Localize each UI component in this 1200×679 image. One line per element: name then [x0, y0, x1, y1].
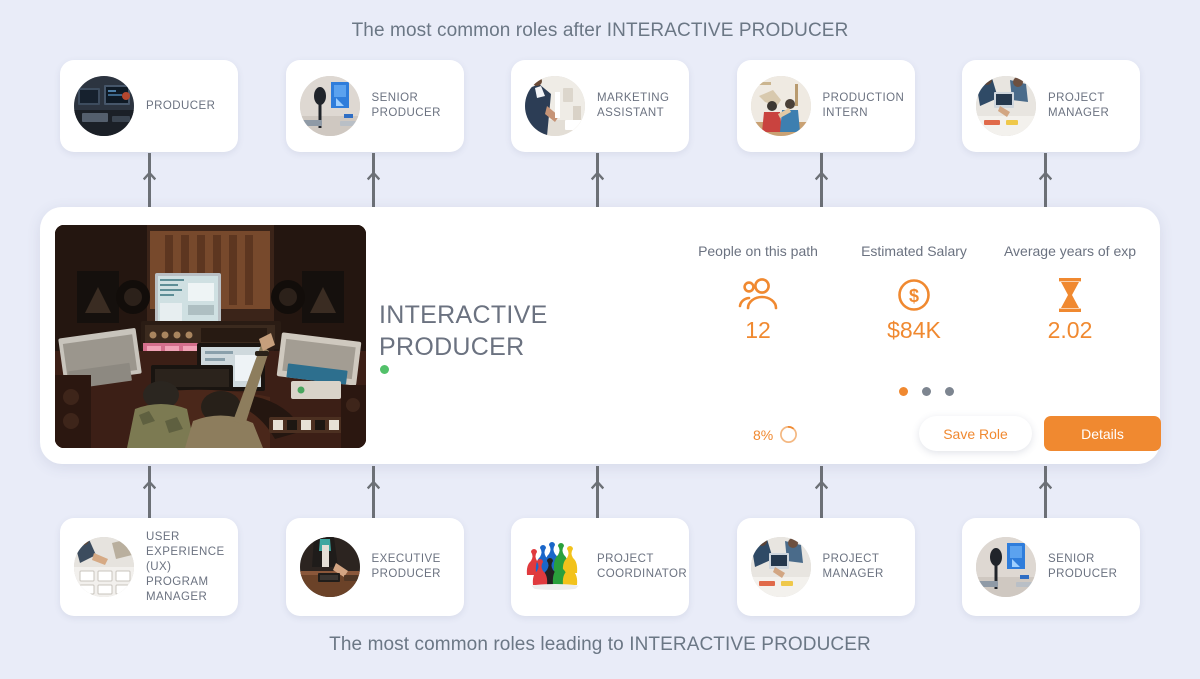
stat-label: People on this path	[680, 243, 836, 259]
connector-arrow-up-5	[1038, 153, 1052, 207]
connector-arrow-up-10	[1038, 466, 1052, 518]
stat-value: 12	[680, 317, 836, 344]
carousel-dot-1[interactable]	[899, 387, 908, 396]
role-card-label: EXECUTIVE PRODUCER	[372, 552, 441, 582]
connector-arrow-up-1	[142, 153, 156, 207]
connector-arrow-up-4	[814, 153, 828, 207]
stat-value: $84K	[836, 317, 992, 344]
stat-label: Estimated Salary	[836, 243, 992, 259]
interactive-producer-studio-photo	[55, 225, 366, 448]
carousel-dot-2[interactable]	[922, 387, 931, 396]
svg-text:$: $	[909, 286, 919, 306]
match-percentage: 8%	[753, 425, 798, 444]
details-button[interactable]: Details	[1044, 416, 1161, 451]
project-coordinator-figures-photo	[525, 537, 585, 597]
status-indicator-dot	[380, 365, 389, 374]
executive-producer-desk-photo	[300, 537, 360, 597]
role-card-label: PROJECT MANAGER	[823, 552, 884, 582]
role-card-label: PROJECT COORDINATOR	[597, 552, 687, 582]
role-card-label: USER EXPERIENCE (UX) PROGRAM MANAGER	[146, 530, 225, 605]
role-card-project-coordinator[interactable]: PROJECT COORDINATOR	[511, 518, 689, 616]
match-percentage-value: 8%	[753, 427, 773, 443]
role-card-label: PRODUCTION INTERN	[823, 91, 905, 121]
dollar-circle-icon: $	[836, 275, 992, 315]
next-roles-caption: The most common roles after INTERACTIVE …	[0, 20, 1200, 42]
production-intern-workshop-photo	[751, 76, 811, 136]
carousel-dots	[866, 387, 986, 396]
connector-arrow-up-8	[590, 466, 604, 518]
project-manager-team-photo	[751, 537, 811, 597]
role-card-label: SENIOR PRODUCER	[372, 91, 441, 121]
role-card-ux-program-manager[interactable]: USER EXPERIENCE (UX) PROGRAM MANAGER	[60, 518, 238, 616]
save-role-button[interactable]: Save Role	[919, 416, 1032, 451]
stat-value: 2.02	[992, 317, 1148, 344]
previous-roles-caption: The most common roles leading to INTERAC…	[0, 634, 1200, 656]
current-role-title: INTERACTIVE PRODUCER	[379, 299, 548, 363]
stat-estimated-salary: Estimated Salary $ $84K	[836, 243, 992, 344]
role-card-marketing-assistant[interactable]: MARKETING ASSISTANT	[511, 60, 689, 152]
role-stats: People on this path 12 Estimated Salary …	[680, 243, 1148, 344]
marketing-assistant-desk-photo	[525, 76, 585, 136]
role-card-senior-producer-bottom[interactable]: SENIOR PRODUCER	[962, 518, 1140, 616]
stat-people-on-this-path: People on this path 12	[680, 243, 836, 344]
project-manager-team-photo	[976, 76, 1036, 136]
next-roles-row: PRODUCER SENIOR PRODUCER	[60, 60, 1140, 152]
connector-arrow-up-2	[366, 153, 380, 207]
current-role-card[interactable]: INTERACTIVE PRODUCER People on this path…	[40, 207, 1160, 464]
connector-arrow-up-6	[142, 466, 156, 518]
hourglass-icon	[992, 275, 1148, 315]
connector-arrow-up-3	[590, 153, 604, 207]
role-card-project-manager-top[interactable]: PROJECT MANAGER	[962, 60, 1140, 152]
people-icon	[680, 275, 836, 315]
role-card-project-manager-bottom[interactable]: PROJECT MANAGER	[737, 518, 915, 616]
role-card-producer[interactable]: PRODUCER	[60, 60, 238, 152]
role-card-senior-producer[interactable]: SENIOR PRODUCER	[286, 60, 464, 152]
role-card-label: SENIOR PRODUCER	[1048, 552, 1117, 582]
carousel-dot-3[interactable]	[945, 387, 954, 396]
progress-ring-icon	[779, 425, 798, 444]
role-card-label: PRODUCER	[146, 99, 215, 114]
connector-arrow-up-9	[814, 466, 828, 518]
stat-average-years-of-exp: Average years of exp 2.02	[992, 243, 1148, 344]
role-card-production-intern[interactable]: PRODUCTION INTERN	[737, 60, 915, 152]
stat-label: Average years of exp	[992, 243, 1148, 259]
connector-arrow-up-7	[366, 466, 380, 518]
role-card-label: PROJECT MANAGER	[1048, 91, 1109, 121]
producer-console-photo	[74, 76, 134, 136]
previous-roles-row: USER EXPERIENCE (UX) PROGRAM MANAGER EXE…	[60, 518, 1140, 616]
role-card-executive-producer[interactable]: EXECUTIVE PRODUCER	[286, 518, 464, 616]
senior-producer-mic-photo	[976, 537, 1036, 597]
senior-producer-mic-photo	[300, 76, 360, 136]
role-card-label: MARKETING ASSISTANT	[597, 91, 669, 121]
ux-program-manager-wireframe-photo	[74, 537, 134, 597]
